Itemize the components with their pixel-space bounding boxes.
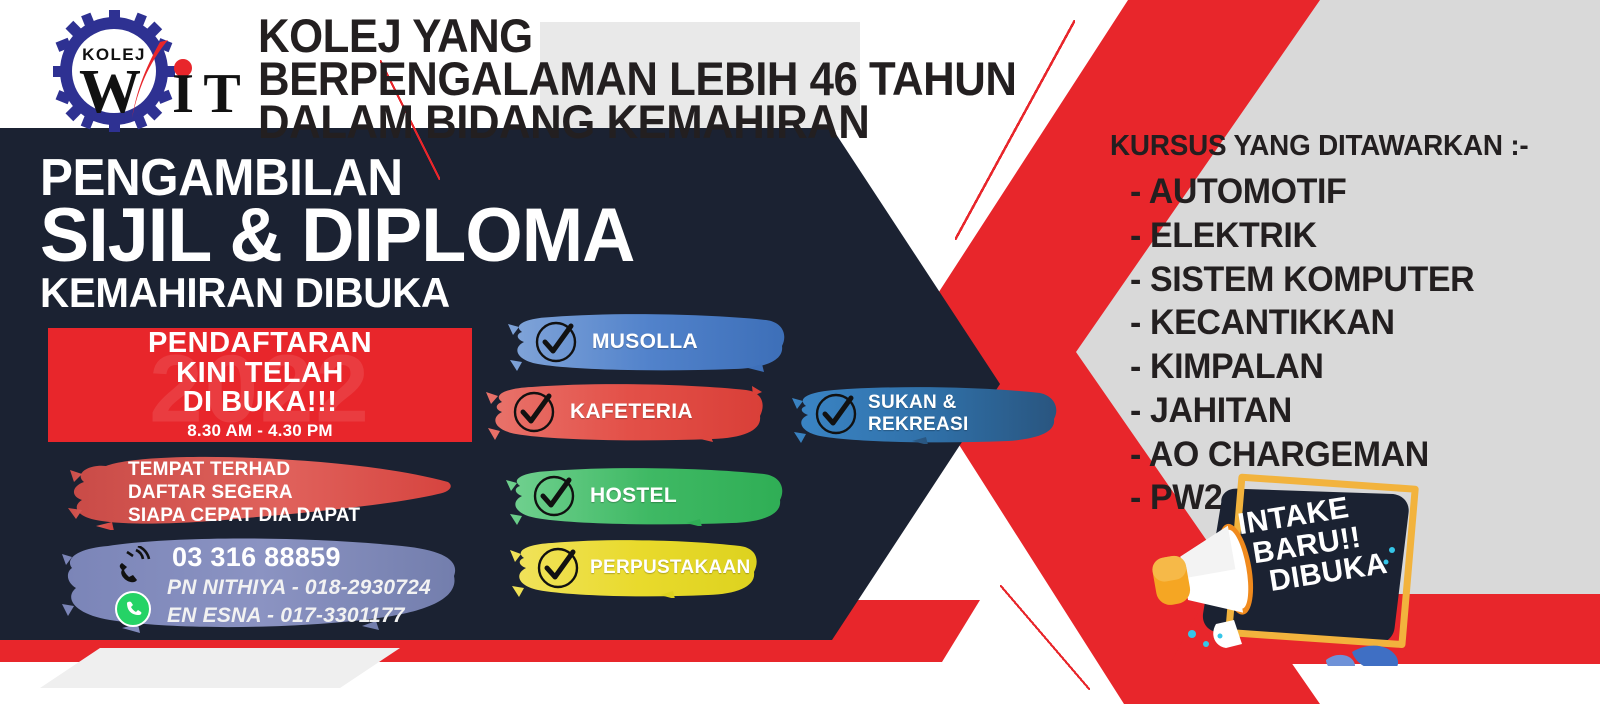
facility-badge-sukan-rekreasi: SUKAN & REKREASI xyxy=(792,384,1060,444)
headline: KOLEJ YANG BERPENGALAMAN LEBIH 46 TAHUN … xyxy=(258,14,1074,144)
facility-badge-kafeteria: KAFETERIA xyxy=(486,382,766,442)
accent-dot xyxy=(1218,634,1223,639)
course-item: - JAHITAN xyxy=(1130,389,1474,433)
urgency-brush-block: TEMPAT TERHAD DAFTAR SEGERA SIAPA CEPAT … xyxy=(66,452,456,530)
whatsapp-icon xyxy=(114,590,152,628)
course-item: - KIMPALAN xyxy=(1130,345,1474,389)
headline-line-3: DALAM BIDANG KEMAHIRAN xyxy=(258,100,1016,143)
main-title-line-2: SIJIL & DIPLOMA xyxy=(40,198,634,274)
facility-badge-musolla: MUSOLLA xyxy=(508,312,788,372)
headline-line-1: KOLEJ YANG xyxy=(258,14,1016,57)
facility-label: HOSTEL xyxy=(590,466,677,526)
blue-swoosh xyxy=(1352,646,1398,666)
contact-person-2[interactable]: EN ESNA - 017-3301177 xyxy=(167,604,405,628)
accent-dot xyxy=(1188,630,1196,638)
facility-label: MUSOLLA xyxy=(592,312,698,372)
phone-main-number[interactable]: 03 316 88859 xyxy=(172,542,341,573)
course-item: - SISTEM KOMPUTER xyxy=(1130,258,1474,302)
urgency-line-3: SIAPA CEPAT DIA DAPAT xyxy=(128,504,360,527)
facility-badge-perpustakaan: PERPUSTAKAAN xyxy=(510,538,760,598)
phone-ringing-icon xyxy=(114,546,154,586)
registration-line-1: PENDAFTARAN xyxy=(148,329,372,359)
courses-title: KURSUS YANG DITAWARKAN :- xyxy=(1110,130,1529,163)
facility-label: PERPUSTAKAAN xyxy=(590,538,751,598)
kolej-wit-logo: KOLEJ W I T xyxy=(52,8,252,134)
contact-person-1[interactable]: PN NITHIYA - 018-2930724 xyxy=(167,576,431,600)
grey-footer-strip xyxy=(40,648,400,704)
facility-badge-hostel: HOSTEL xyxy=(506,466,786,526)
checkmark-icon xyxy=(534,320,578,364)
logo-letter-i: I xyxy=(172,63,194,125)
main-title-line-3: KEMAHIRAN DIBUKA xyxy=(40,272,628,314)
urgency-line-1: TEMPAT TERHAD xyxy=(128,458,360,481)
facility-label: SUKAN & REKREASI xyxy=(868,384,1060,444)
headline-line-2: BERPENGALAMAN LEBIH 46 TAHUN xyxy=(258,57,1016,100)
megaphone-callout: INTAKE BARU!! DIBUKA xyxy=(1130,466,1450,666)
logo-letter-w: W xyxy=(79,58,141,126)
facility-label: KAFETERIA xyxy=(570,382,693,442)
checkmark-icon xyxy=(512,390,556,434)
course-item: - KECANTIKKAN xyxy=(1130,301,1474,345)
urgency-text: TEMPAT TERHAD DAFTAR SEGERA SIAPA CEPAT … xyxy=(128,458,360,528)
urgency-line-2: DAFTAR SEGERA xyxy=(128,481,360,504)
logo-letter-t: T xyxy=(203,63,240,125)
course-item: - AUTOMOTIF xyxy=(1130,170,1474,214)
checkmark-icon xyxy=(532,474,576,518)
registration-box: 2022 PENDAFTARAN KINI TELAH DI BUKA!!! 8… xyxy=(48,328,472,442)
registration-hours: 8.30 AM - 4.30 PM xyxy=(187,421,332,441)
registration-line-2: KINI TELAH xyxy=(176,359,344,389)
red-accent-line-bottom xyxy=(1000,585,1090,690)
course-item: - ELEKTRIK xyxy=(1130,214,1474,258)
promotional-banner: KOLEJ W I T KOLEJ YANG BERPENGALAMAN LEB… xyxy=(0,0,1600,704)
checkmark-icon xyxy=(814,392,858,436)
registration-line-3: DI BUKA!!! xyxy=(183,388,338,418)
checkmark-icon xyxy=(536,546,580,590)
main-title: PENGAMBILAN SIJIL & DIPLOMA KEMAHIRAN DI… xyxy=(40,152,653,314)
accent-dot xyxy=(1203,641,1209,647)
contact-brush-block: 03 316 88859 PN NITHIYA - 018-2930724 EN… xyxy=(62,534,462,634)
